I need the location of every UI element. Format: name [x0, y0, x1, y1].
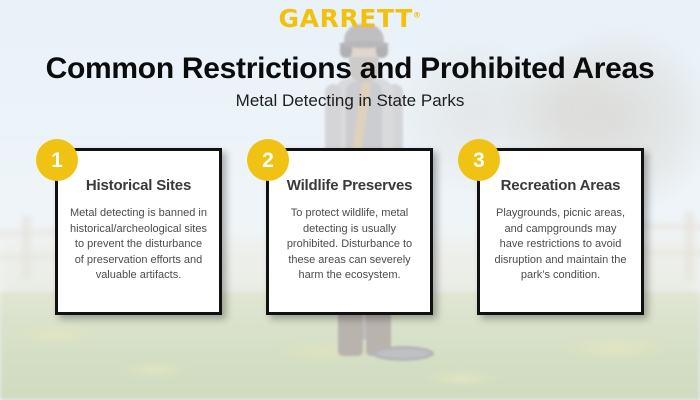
- garrett-logo: GARRETT®: [0, 4, 700, 33]
- card-number-badge: 3: [458, 139, 500, 181]
- card-title: Historical Sites: [58, 177, 219, 194]
- card-body: Playgrounds, picnic areas, and campgroun…: [492, 206, 629, 284]
- card-number-badge: 1: [36, 139, 78, 181]
- restriction-card[interactable]: 2 Wildlife Preserves To protect wildlife…: [266, 148, 433, 315]
- infographic-content: GARRETT® Common Restrictions and Prohibi…: [0, 0, 700, 400]
- brand-name: GARRETT: [279, 4, 413, 33]
- restriction-cards: 1 Historical Sites Metal detecting is ba…: [0, 148, 700, 323]
- page-subtitle: Metal Detecting in State Parks: [0, 91, 700, 111]
- card-title: Wildlife Preserves: [269, 177, 430, 194]
- restriction-card[interactable]: 1 Historical Sites Metal detecting is ba…: [55, 148, 222, 315]
- card-number-badge: 2: [247, 139, 289, 181]
- page-title: Common Restrictions and Prohibited Areas: [0, 52, 700, 86]
- card-title: Recreation Areas: [480, 177, 641, 194]
- card-body: Metal detecting is banned in historical/…: [70, 206, 207, 284]
- card-body: To protect wildlife, metal detecting is …: [281, 206, 418, 284]
- trademark-symbol: ®: [413, 11, 422, 20]
- restriction-card[interactable]: 3 Recreation Areas Playgrounds, picnic a…: [477, 148, 644, 315]
